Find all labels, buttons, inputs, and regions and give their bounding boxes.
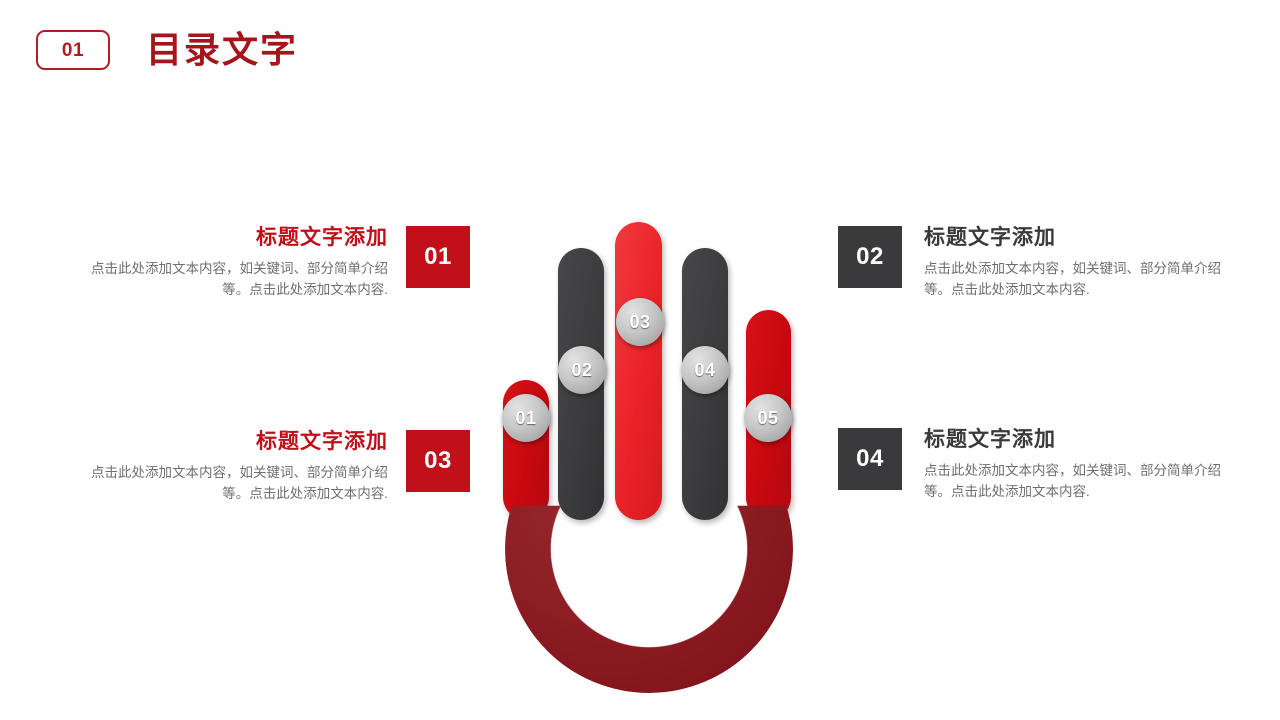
finger-pin-01[interactable]: 01 <box>502 394 550 442</box>
finger-pin-05[interactable]: 05 <box>744 394 792 442</box>
content-text-02: 标题文字添加 点击此处添加文本内容，如关键词、部分简单介绍等。点击此处添加文本内… <box>924 226 1224 301</box>
hand-diagram: 01 02 03 04 05 <box>480 200 820 640</box>
content-number-box-01: 01 <box>406 226 470 288</box>
finger-pin-03[interactable]: 03 <box>616 298 664 346</box>
content-body-02: 点击此处添加文本内容，如关键词、部分简单介绍等。点击此处添加文本内容. <box>924 259 1224 301</box>
content-number-02: 02 <box>856 245 884 269</box>
content-text-03: 标题文字添加 点击此处添加文本内容，如关键词、部分简单介绍等。点击此处添加文本内… <box>88 430 388 505</box>
finger-pin-label-02: 02 <box>571 361 592 379</box>
finger-pin-02[interactable]: 02 <box>558 346 606 394</box>
finger-bar-03[interactable] <box>615 222 662 520</box>
header-section-number: 01 <box>62 41 84 60</box>
slide-header: 01 目录文字 <box>36 30 298 70</box>
finger-pin-label-03: 03 <box>629 313 650 331</box>
header-section-badge: 01 <box>36 30 110 70</box>
finger-pin-label-01: 01 <box>515 409 536 427</box>
slide-canvas: 01 目录文字 标题文字添加 点击此处添加文本内容，如关键词、部分简单介绍等。点… <box>0 0 1280 720</box>
finger-pin-label-04: 04 <box>694 361 715 379</box>
content-number-01: 01 <box>424 245 452 269</box>
content-body-03: 点击此处添加文本内容，如关键词、部分简单介绍等。点击此处添加文本内容. <box>88 463 388 505</box>
content-text-04: 标题文字添加 点击此处添加文本内容，如关键词、部分简单介绍等。点击此处添加文本内… <box>924 428 1224 503</box>
content-block-04[interactable]: 04 标题文字添加 点击此处添加文本内容，如关键词、部分简单介绍等。点击此处添加… <box>838 428 1224 503</box>
content-body-01: 点击此处添加文本内容，如关键词、部分简单介绍等。点击此处添加文本内容. <box>88 259 388 301</box>
content-title-04: 标题文字添加 <box>924 428 1224 451</box>
content-number-03: 03 <box>424 449 452 473</box>
page-title: 目录文字 <box>146 32 298 68</box>
content-number-box-04: 04 <box>838 428 902 490</box>
content-title-02: 标题文字添加 <box>924 226 1224 249</box>
finger-pin-04[interactable]: 04 <box>681 346 729 394</box>
content-number-box-03: 03 <box>406 430 470 492</box>
content-title-01: 标题文字添加 <box>88 226 388 249</box>
content-block-03[interactable]: 标题文字添加 点击此处添加文本内容，如关键词、部分简单介绍等。点击此处添加文本内… <box>88 430 470 505</box>
content-block-01[interactable]: 标题文字添加 点击此处添加文本内容，如关键词、部分简单介绍等。点击此处添加文本内… <box>88 226 470 301</box>
content-text-01: 标题文字添加 点击此处添加文本内容，如关键词、部分简单介绍等。点击此处添加文本内… <box>88 226 388 301</box>
content-title-03: 标题文字添加 <box>88 430 388 453</box>
content-number-04: 04 <box>856 447 884 471</box>
content-number-box-02: 02 <box>838 226 902 288</box>
content-block-02[interactable]: 02 标题文字添加 点击此处添加文本内容，如关键词、部分简单介绍等。点击此处添加… <box>838 226 1224 301</box>
finger-pin-label-05: 05 <box>757 409 778 427</box>
content-body-04: 点击此处添加文本内容，如关键词、部分简单介绍等。点击此处添加文本内容. <box>924 461 1224 503</box>
